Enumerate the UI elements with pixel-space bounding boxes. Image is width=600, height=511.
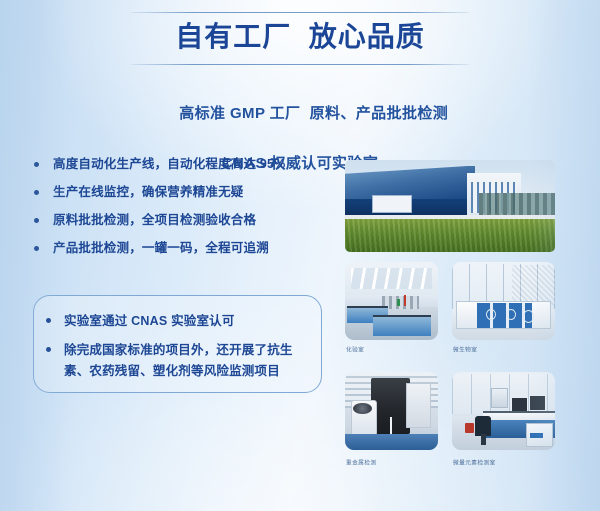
list-item: 实验室通过 CNAS 实验室认可: [46, 311, 308, 332]
feature-text: 产品批批检测，一罐一码，全程可追溯: [53, 239, 334, 258]
list-item: 除完成国家标准的项目外，还开展了抗生 素、农药残留、塑化剂等风险监测项目: [46, 340, 308, 382]
list-item: 生产在线监控，确保营养精准无疑: [34, 183, 334, 202]
photo-microbiology-lab: [452, 262, 555, 340]
promo-poster: 自有工厂 放心品质 高标准 GMP 工厂 原料、产品批批检测 CNAS 权威认可…: [0, 0, 600, 511]
feature-text: 原料批批检测，全项目检测验收合格: [53, 211, 334, 230]
caption-microbiology-lab: 微生物室: [453, 345, 477, 354]
feature-text: 高度自动化生产线，自动化程度高达 95%: [53, 155, 334, 174]
title-divider-bottom: [131, 64, 469, 65]
page-title: 自有工厂 放心品质: [0, 17, 600, 57]
bullet-dot-icon: [34, 162, 39, 167]
caption-heavy-metal: 重金属检测: [346, 458, 376, 467]
caption-trace-element: 微量元素检测室: [453, 458, 496, 467]
cnas-highlight-box: 实验室通过 CNAS 实验室认可 除完成国家标准的项目外，还开展了抗生 素、农药…: [33, 295, 322, 393]
photo-trace-element-lab: [452, 372, 555, 450]
photo-chemistry-lab: [345, 262, 438, 340]
bullet-dot-icon: [34, 246, 39, 251]
cnas-text: 除完成国家标准的项目外，还开展了抗生 素、农药残留、塑化剂等风险监测项目: [64, 340, 308, 382]
title-divider-top: [131, 12, 469, 13]
bullet-dot-icon: [34, 190, 39, 195]
bullet-dot-icon: [46, 318, 51, 323]
bullet-dot-icon: [46, 347, 51, 352]
caption-chemistry-lab: 化验室: [346, 345, 364, 354]
cnas-list: 实验室通过 CNAS 实验室认可 除完成国家标准的项目外，还开展了抗生 素、农药…: [46, 311, 308, 390]
feature-text: 生产在线监控，确保营养精准无疑: [53, 183, 334, 202]
list-item: 原料批批检测，全项目检测验收合格: [34, 211, 334, 230]
subtitle-line-1: 高标准 GMP 工厂 原料、产品批批检测: [179, 105, 448, 122]
feature-list: 高度自动化生产线，自动化程度高达 95% 生产在线监控，确保营养精准无疑 原料批…: [34, 155, 334, 267]
photo-heavy-metal-instrument: [345, 372, 438, 450]
photo-factory-exterior: [345, 160, 555, 252]
cnas-text: 实验室通过 CNAS 实验室认可: [64, 311, 308, 332]
list-item: 产品批批检测，一罐一码，全程可追溯: [34, 239, 334, 258]
bullet-dot-icon: [34, 218, 39, 223]
list-item: 高度自动化生产线，自动化程度高达 95%: [34, 155, 334, 174]
